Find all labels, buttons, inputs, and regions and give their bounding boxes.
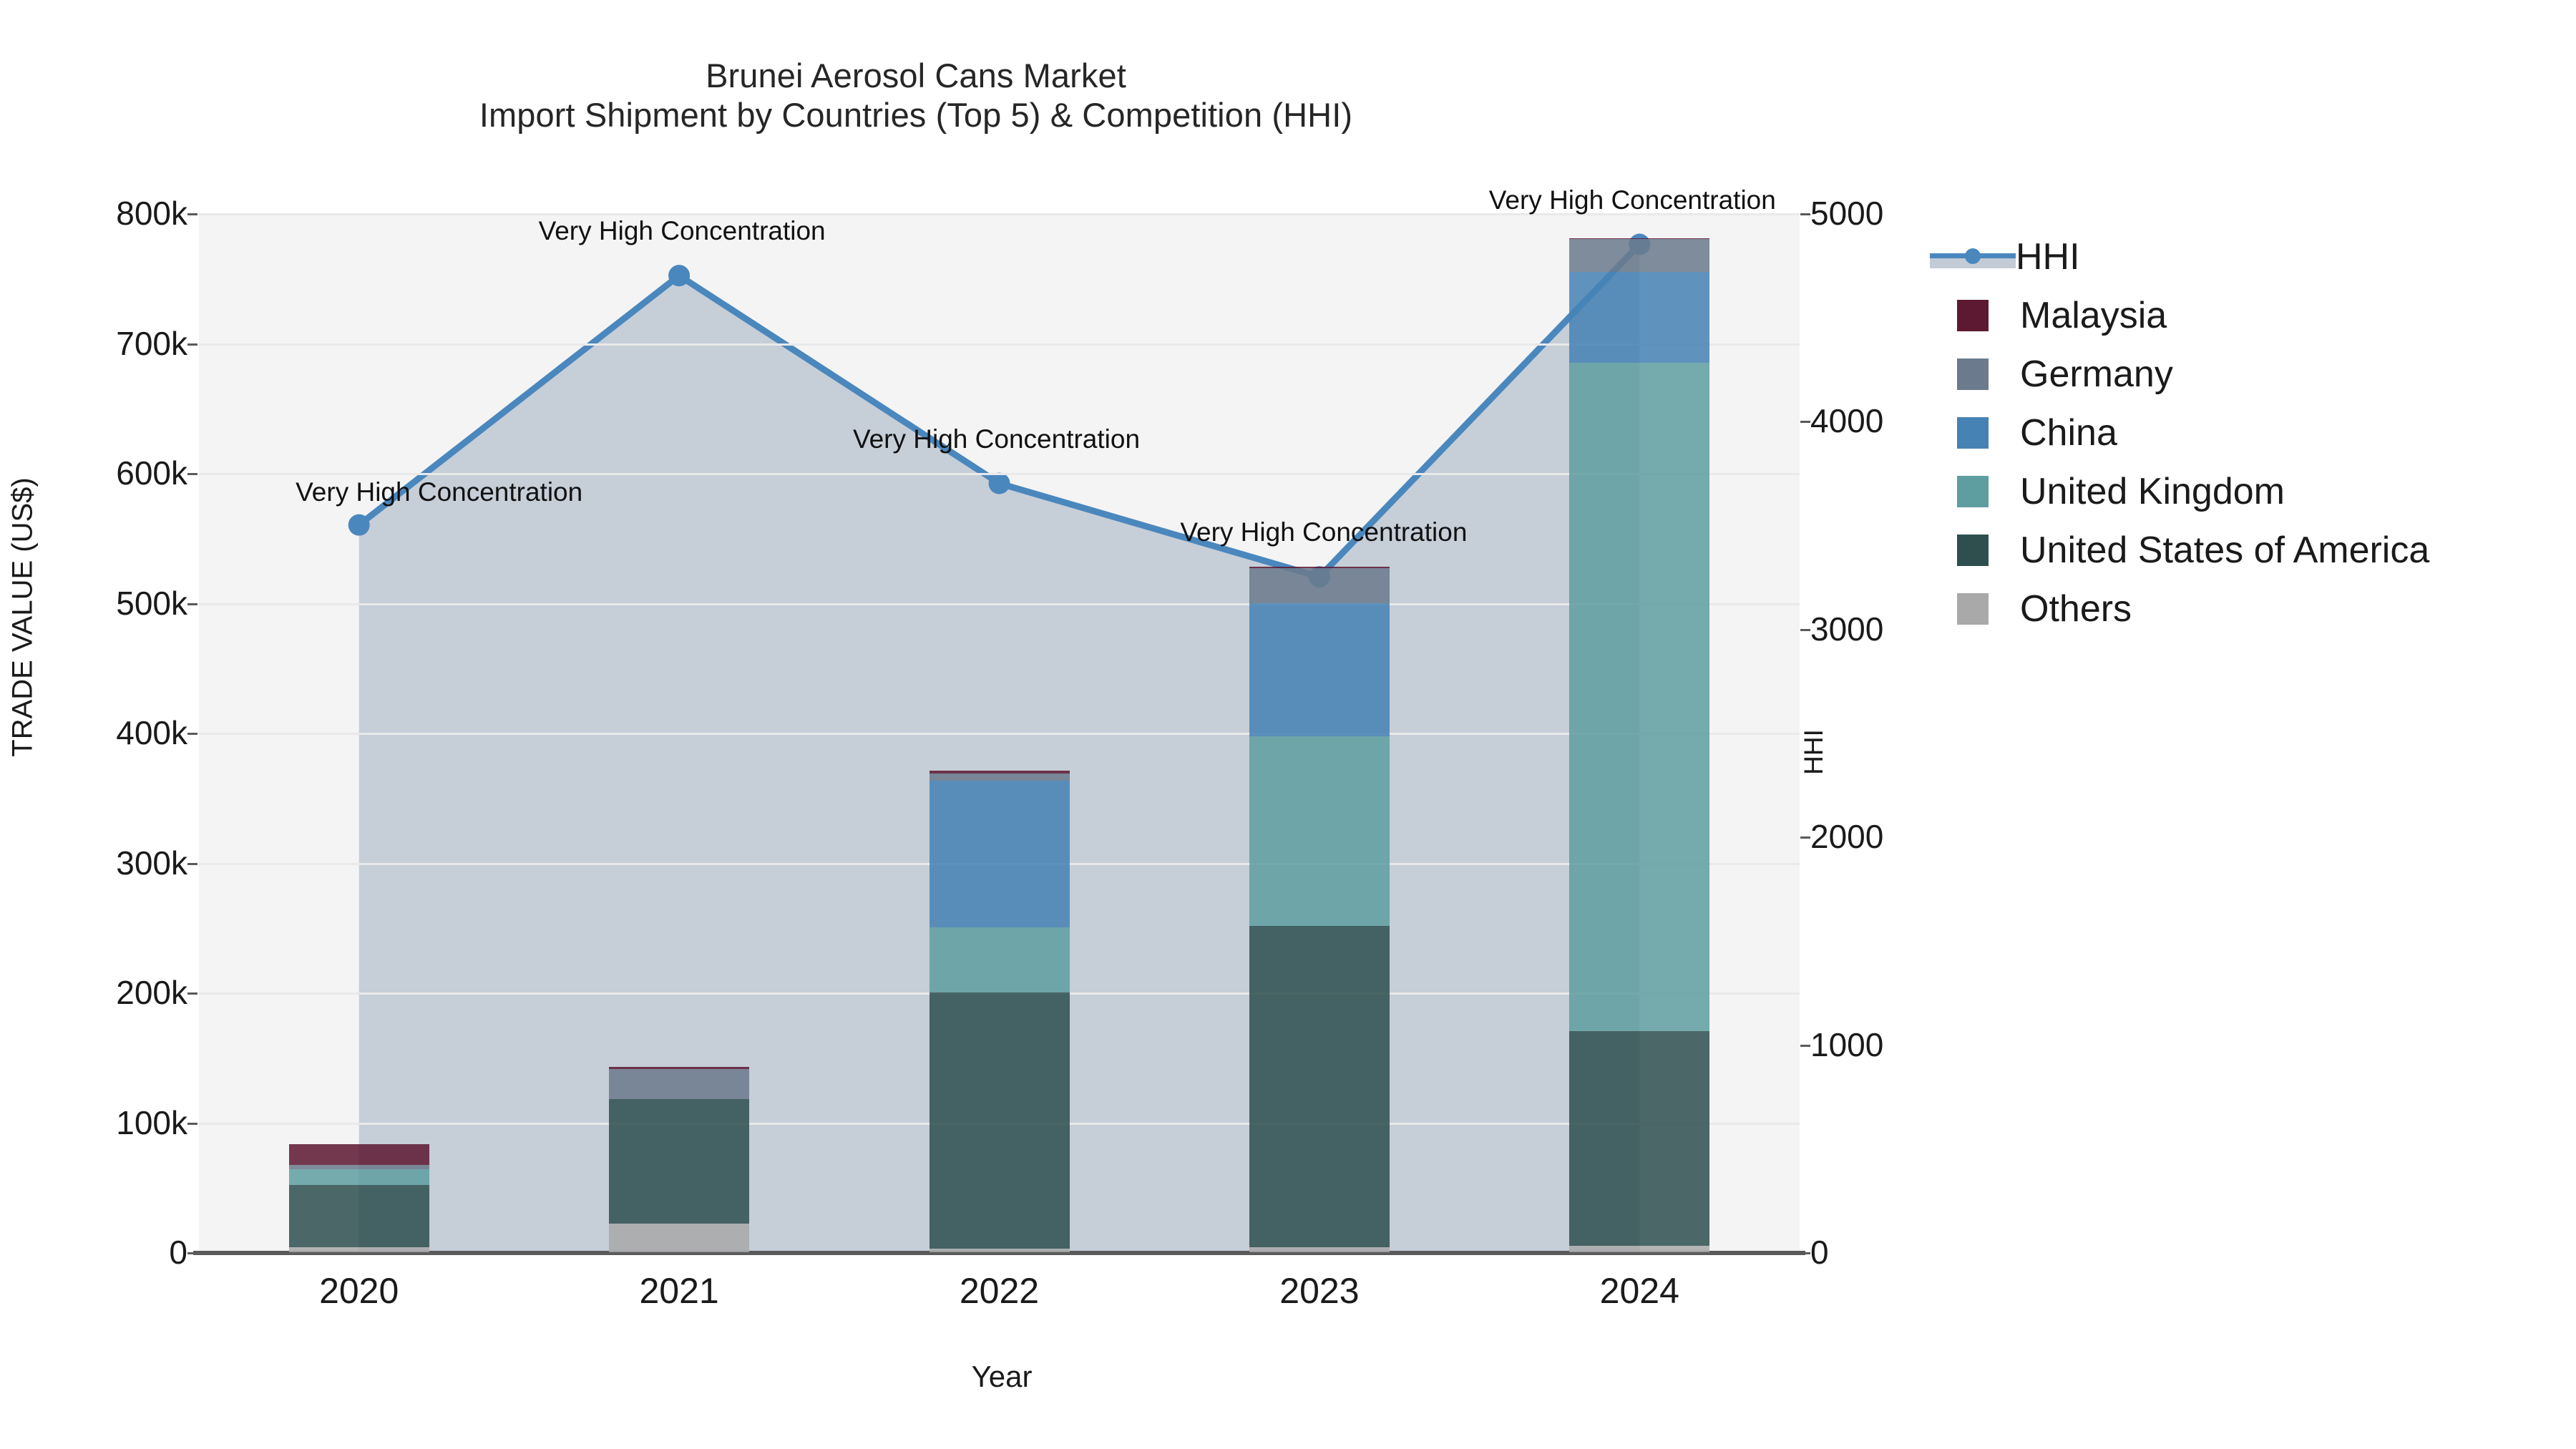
bar-segment-2021-malaysia[interactable] [609, 1067, 749, 1069]
y-axis-tick-200k: 200k [0, 973, 187, 1012]
legend-swatch-china [1957, 417, 1989, 449]
y-axis-secondary-tick-2000: 2000 [1810, 817, 2011, 856]
bar-segment-2020-malaysia[interactable] [289, 1144, 429, 1165]
legend-label: United States of America [2020, 529, 2429, 572]
legend-label: Malaysia [2020, 294, 2167, 337]
y-axis-tick-600k: 600k [0, 454, 187, 492]
legend-swatch-united-kingdom [1957, 476, 1989, 507]
legend-item-hhi[interactable]: HHI [1957, 228, 2558, 286]
bar-segment-2020-others[interactable] [289, 1247, 429, 1252]
bar-segment-2023-germany[interactable] [1249, 568, 1390, 603]
bar-segment-2024-china[interactable] [1569, 272, 1709, 363]
bar-group-2020[interactable] [289, 213, 429, 1252]
legend-swatch-germany [1957, 358, 1989, 390]
y-axis-secondary-tick-5000: 5000 [1810, 194, 2011, 233]
bar-segment-2023-malaysia[interactable] [1249, 567, 1390, 568]
y-axis-tick-300k: 300k [0, 844, 187, 882]
x-axis-label: Year [0, 1360, 2004, 1394]
legend-swatch-united-states-of-america [1957, 535, 1989, 566]
legend-item-germany[interactable]: Germany [1957, 345, 2558, 404]
bar-segment-2024-united-kingdom[interactable] [1569, 363, 1709, 1032]
legend-label: China [2020, 411, 2117, 454]
bar-segment-2020-united-kingdom[interactable] [289, 1169, 429, 1185]
bar-segment-2023-united-kingdom[interactable] [1249, 736, 1390, 926]
x-axis-tick-2020: 2020 [252, 1270, 467, 1312]
bar-group-2022[interactable] [930, 213, 1070, 1252]
bar-segment-2024-malaysia[interactable] [1569, 238, 1709, 240]
bar-group-2023[interactable] [1249, 213, 1390, 1252]
hhi-annotation-2022: Very High Concentration [853, 424, 1140, 454]
legend-swatch-others [1957, 593, 1989, 625]
hhi-annotation-2023: Very High Concentration [1180, 517, 1467, 547]
bar-segment-2020-united-states-of-america[interactable] [289, 1185, 429, 1247]
y-axis-tick-100k: 100k [0, 1103, 187, 1142]
legend-item-united-states-of-america[interactable]: United States of America [1957, 521, 2558, 580]
hhi-annotation-2020: Very High Concentration [296, 477, 582, 507]
bar-segment-2024-others[interactable] [1569, 1246, 1709, 1252]
hhi-annotation-2024: Very High Concentration [1489, 185, 1776, 215]
bar-group-2021[interactable] [609, 213, 749, 1252]
bar-segment-2023-united-states-of-america[interactable] [1249, 926, 1390, 1246]
page-title: Brunei Aerosol Cans Market [0, 56, 1832, 95]
bar-segment-2020-germany[interactable] [289, 1165, 429, 1169]
legend-label: Germany [2020, 353, 2173, 396]
legend-label: Others [2020, 587, 2132, 630]
chart-legend: HHIMalaysiaGermanyChinaUnited KingdomUni… [1957, 228, 2558, 638]
x-axis-tick-2023: 2023 [1212, 1270, 1427, 1312]
legend-item-china[interactable]: China [1957, 404, 2558, 462]
legend-label: HHI [2016, 235, 2080, 278]
bar-segment-2024-united-states-of-america[interactable] [1569, 1031, 1709, 1245]
bar-segment-2024-germany[interactable] [1569, 239, 1709, 271]
hhi-line-legend-icon [1930, 241, 2016, 273]
bar-segment-2021-others[interactable] [609, 1224, 749, 1252]
bar-segment-2022-united-states-of-america[interactable] [930, 992, 1070, 1249]
bar-segment-2021-germany[interactable] [609, 1069, 749, 1099]
legend-swatch-malaysia [1957, 300, 1989, 331]
bar-segment-2022-others[interactable] [930, 1249, 1070, 1252]
legend-label: United Kingdom [2020, 470, 2285, 513]
legend-item-malaysia[interactable]: Malaysia [1957, 286, 2558, 345]
bar-segment-2022-china[interactable] [930, 781, 1070, 927]
legend-item-united-kingdom[interactable]: United Kingdom [1957, 462, 2558, 521]
hhi-legend-dot [1965, 248, 1981, 264]
bar-segment-2022-germany[interactable] [930, 774, 1070, 781]
bar-segment-2021-united-states-of-america[interactable] [609, 1099, 749, 1224]
chart-title-block: Brunei Aerosol Cans Market Import Shipme… [0, 56, 1832, 135]
bar-segment-2022-united-kingdom[interactable] [930, 927, 1070, 992]
y-axis-secondary-tick-1000: 1000 [1810, 1025, 2011, 1064]
bar-segment-2023-china[interactable] [1249, 603, 1390, 737]
bar-segment-2023-others[interactable] [1249, 1247, 1390, 1252]
legend-item-others[interactable]: Others [1957, 580, 2558, 638]
y-axis-tick-400k: 400k [0, 713, 187, 752]
y-axis-tick-500k: 500k [0, 584, 187, 623]
bar-segment-2022-malaysia[interactable] [930, 771, 1070, 774]
y-axis-tick-0: 0 [0, 1233, 187, 1272]
x-axis-tick-2024: 2024 [1532, 1270, 1747, 1312]
bar-group-2024[interactable] [1569, 213, 1709, 1252]
x-axis-tick-2022: 2022 [892, 1270, 1107, 1312]
x-axis-tick-2021: 2021 [572, 1270, 786, 1312]
y-axis-secondary-tick-0: 0 [1810, 1233, 2011, 1272]
y-axis-tick-800k: 800k [0, 194, 187, 233]
y-axis-tick-700k: 700k [0, 324, 187, 363]
hhi-annotation-2021: Very High Concentration [539, 216, 826, 246]
chart-subtitle: Import Shipment by Countries (Top 5) & C… [0, 95, 1832, 135]
